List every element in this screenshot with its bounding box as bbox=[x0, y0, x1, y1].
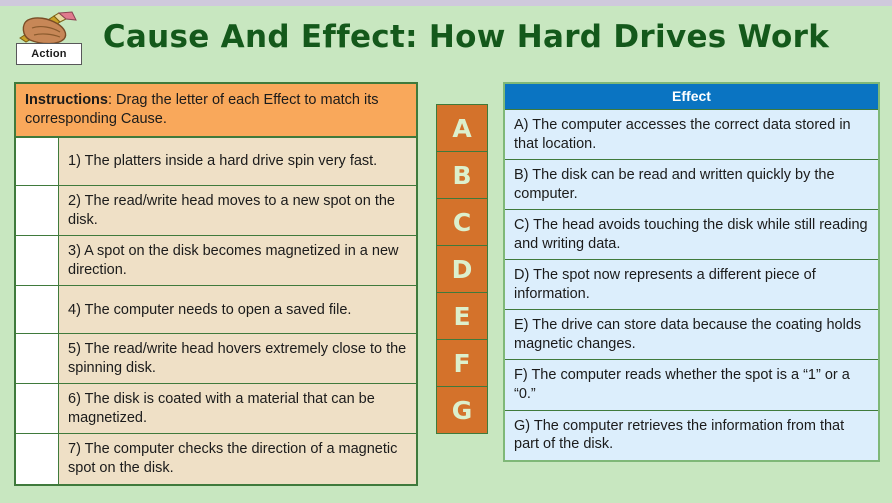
cause-text-2: 2) The read/write head moves to a new sp… bbox=[59, 186, 416, 235]
cause-text-7: 7) The computer checks the direction of … bbox=[59, 434, 416, 483]
answer-drop-cell-1[interactable] bbox=[16, 138, 59, 185]
instructions-box: Instructions: Drag the letter of each Ef… bbox=[16, 84, 416, 138]
table-row: 1) The platters inside a hard drive spin… bbox=[16, 138, 416, 186]
table-row: 2) The read/write head moves to a new sp… bbox=[16, 186, 416, 236]
cause-table: Instructions: Drag the letter of each Ef… bbox=[14, 82, 418, 486]
table-row: 4) The computer needs to open a saved fi… bbox=[16, 286, 416, 334]
letter-tile-a[interactable]: A bbox=[436, 104, 488, 152]
cause-text-4: 4) The computer needs to open a saved fi… bbox=[59, 286, 416, 333]
cause-text-3: 3) A spot on the disk becomes magnetized… bbox=[59, 236, 416, 285]
page-title: Cause And Effect: How Hard Drives Work bbox=[0, 19, 892, 55]
effect-row-c: C) The head avoids touching the disk whi… bbox=[505, 210, 878, 260]
table-row: 7) The computer checks the direction of … bbox=[16, 434, 416, 483]
effect-row-a: A) The computer accesses the correct dat… bbox=[505, 110, 878, 160]
effect-row-f: F) The computer reads whether the spot i… bbox=[505, 360, 878, 410]
letter-tile-column: A B C D E F G bbox=[436, 104, 488, 433]
cause-text-5: 5) The read/write head hovers extremely … bbox=[59, 334, 416, 383]
effect-row-g: G) The computer retrieves the informatio… bbox=[505, 411, 878, 460]
worksheet-page: Action Cause And Effect: How Hard Drives… bbox=[0, 6, 892, 503]
effect-column-header: Effect bbox=[505, 84, 878, 110]
table-row: 5) The read/write head hovers extremely … bbox=[16, 334, 416, 384]
letter-tile-d[interactable]: D bbox=[436, 245, 488, 293]
letter-tile-g[interactable]: G bbox=[436, 386, 488, 434]
answer-drop-cell-6[interactable] bbox=[16, 384, 59, 433]
instructions-label: Instructions bbox=[25, 92, 108, 108]
effect-table: Effect A) The computer accesses the corr… bbox=[503, 82, 880, 462]
instructions-separator: : bbox=[108, 92, 116, 108]
answer-drop-cell-4[interactable] bbox=[16, 286, 59, 333]
effect-row-e: E) The drive can store data because the … bbox=[505, 310, 878, 360]
effect-row-d: D) The spot now represents a different p… bbox=[505, 260, 878, 310]
letter-tile-c[interactable]: C bbox=[436, 198, 488, 246]
answer-drop-cell-7[interactable] bbox=[16, 434, 59, 483]
page-header: Action Cause And Effect: How Hard Drives… bbox=[0, 6, 892, 72]
effect-row-b: B) The disk can be read and written quic… bbox=[505, 160, 878, 210]
answer-drop-cell-2[interactable] bbox=[16, 186, 59, 235]
answer-drop-cell-5[interactable] bbox=[16, 334, 59, 383]
table-row: 3) A spot on the disk becomes magnetized… bbox=[16, 236, 416, 286]
letter-tile-e[interactable]: E bbox=[436, 292, 488, 340]
letter-tile-b[interactable]: B bbox=[436, 151, 488, 199]
cause-text-6: 6) The disk is coated with a material th… bbox=[59, 384, 416, 433]
letter-tile-f[interactable]: F bbox=[436, 339, 488, 387]
answer-drop-cell-3[interactable] bbox=[16, 236, 59, 285]
table-row: 6) The disk is coated with a material th… bbox=[16, 384, 416, 434]
cause-text-1: 1) The platters inside a hard drive spin… bbox=[59, 138, 416, 185]
